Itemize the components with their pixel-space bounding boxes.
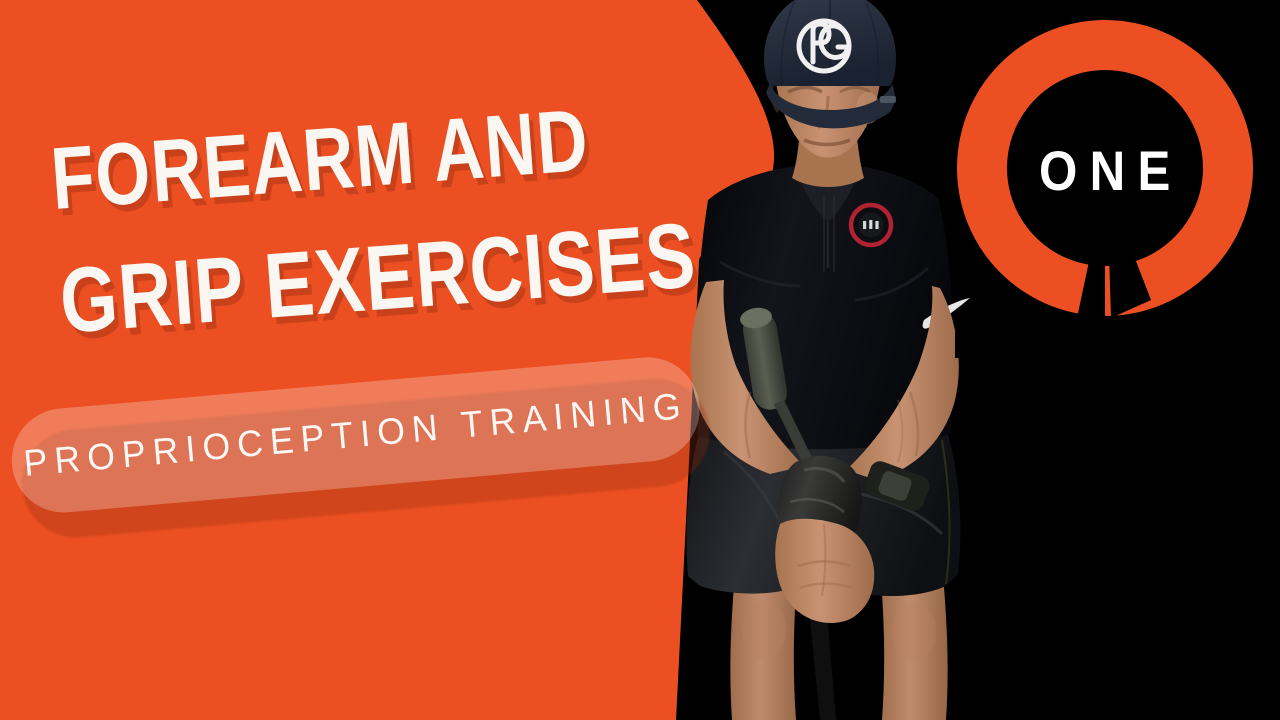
- chest-emblem-icon: [850, 204, 892, 246]
- page-title: FOREARM AND GRIP EXERCISES: [47, 71, 713, 366]
- episode-number-badge: ONE: [955, 18, 1255, 358]
- video-thumbnail: FOREARM AND GRIP EXERCISES PROPRIOCEPTIO…: [0, 0, 1280, 720]
- notched-ring-icon: [955, 18, 1255, 358]
